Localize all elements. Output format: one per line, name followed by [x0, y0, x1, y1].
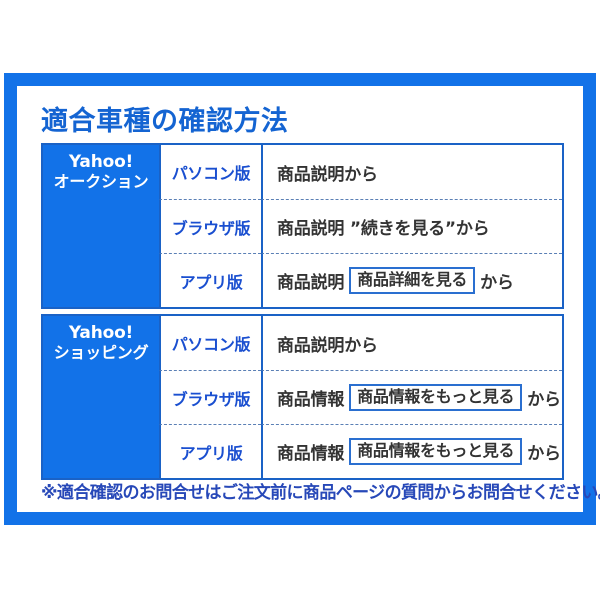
- brand-line2: ショッピング: [43, 344, 159, 362]
- brand-cell-spacer: [43, 199, 159, 253]
- instruction-suffix: から: [480, 268, 514, 293]
- instruction-cell: 商品説明 ”続きを見る”から: [261, 199, 562, 253]
- instruction-suffix: から: [527, 439, 561, 464]
- brand-cell-spacer: [43, 370, 159, 424]
- brand-line2: オークション: [43, 173, 159, 191]
- table-row: アプリ版 商品情報 商品情報をもっと見る から: [43, 424, 562, 478]
- table-row: Yahoo! オークション パソコン版 商品説明から: [43, 145, 562, 199]
- instruction-text: 商品情報: [277, 439, 344, 464]
- instruction-text: 商品情報: [277, 385, 344, 410]
- table-row: Yahoo! ショッピング パソコン版 商品説明から: [43, 316, 562, 370]
- brand-line1: Yahoo!: [69, 152, 133, 172]
- instruction-cell: 商品説明 商品詳細を見る から: [261, 253, 562, 307]
- instruction-text: 商品説明から: [277, 160, 378, 185]
- instruction-suffix: から: [527, 385, 561, 410]
- instruction-text: 商品説明から: [277, 331, 378, 356]
- platform-label: パソコン版: [159, 145, 261, 199]
- brand-label-auction: Yahoo! オークション: [43, 153, 159, 191]
- brand-line1: Yahoo!: [69, 323, 133, 343]
- brand-cell-spacer: [43, 253, 159, 307]
- content-panel: 適合車種の確認方法 Yahoo! オークション パソコン版 商品説明から: [17, 86, 583, 512]
- instruction-cell: 商品説明から: [261, 316, 562, 370]
- compatibility-table: Yahoo! オークション パソコン版 商品説明から ブラウザ版 商品説明 ”続…: [41, 143, 564, 480]
- platform-label: ブラウザ版: [159, 370, 261, 424]
- brand-cell-auction: Yahoo! オークション: [43, 145, 159, 199]
- table-row: ブラウザ版 商品説明 ”続きを見る”から: [43, 199, 562, 253]
- instruction-text: 商品説明: [277, 268, 344, 293]
- instruction-cell: 商品情報 商品情報をもっと見る から: [261, 370, 562, 424]
- brand-label-shopping: Yahoo! ショッピング: [43, 324, 159, 362]
- platform-label: ブラウザ版: [159, 199, 261, 253]
- platform-label: アプリ版: [159, 424, 261, 478]
- table-section-auction: Yahoo! オークション パソコン版 商品説明から ブラウザ版 商品説明 ”続…: [41, 143, 564, 309]
- instruction-cell: 商品情報 商品情報をもっと見る から: [261, 424, 562, 478]
- footer-note: ※適合確認のお問合せはご注文前に商品ページの質問からお問合せください。: [41, 478, 600, 503]
- instruction-text: 商品説明 ”続きを見る”から: [277, 214, 489, 239]
- table-row: ブラウザ版 商品情報 商品情報をもっと見る から: [43, 370, 562, 424]
- platform-label: パソコン版: [159, 316, 261, 370]
- ui-button-reference: 商品情報をもっと見る: [349, 438, 522, 465]
- ui-button-reference: 商品詳細を見る: [349, 267, 475, 294]
- brand-cell-shopping: Yahoo! ショッピング: [43, 316, 159, 370]
- table-row: アプリ版 商品説明 商品詳細を見る から: [43, 253, 562, 307]
- brand-cell-spacer: [43, 424, 159, 478]
- table-section-shopping: Yahoo! ショッピング パソコン版 商品説明から ブラウザ版 商品情報 商品…: [41, 314, 564, 480]
- blue-frame: 適合車種の確認方法 Yahoo! オークション パソコン版 商品説明から: [4, 73, 596, 525]
- platform-label: アプリ版: [159, 253, 261, 307]
- ui-button-reference: 商品情報をもっと見る: [349, 384, 522, 411]
- page-title: 適合車種の確認方法: [41, 99, 289, 138]
- instruction-cell: 商品説明から: [261, 145, 562, 199]
